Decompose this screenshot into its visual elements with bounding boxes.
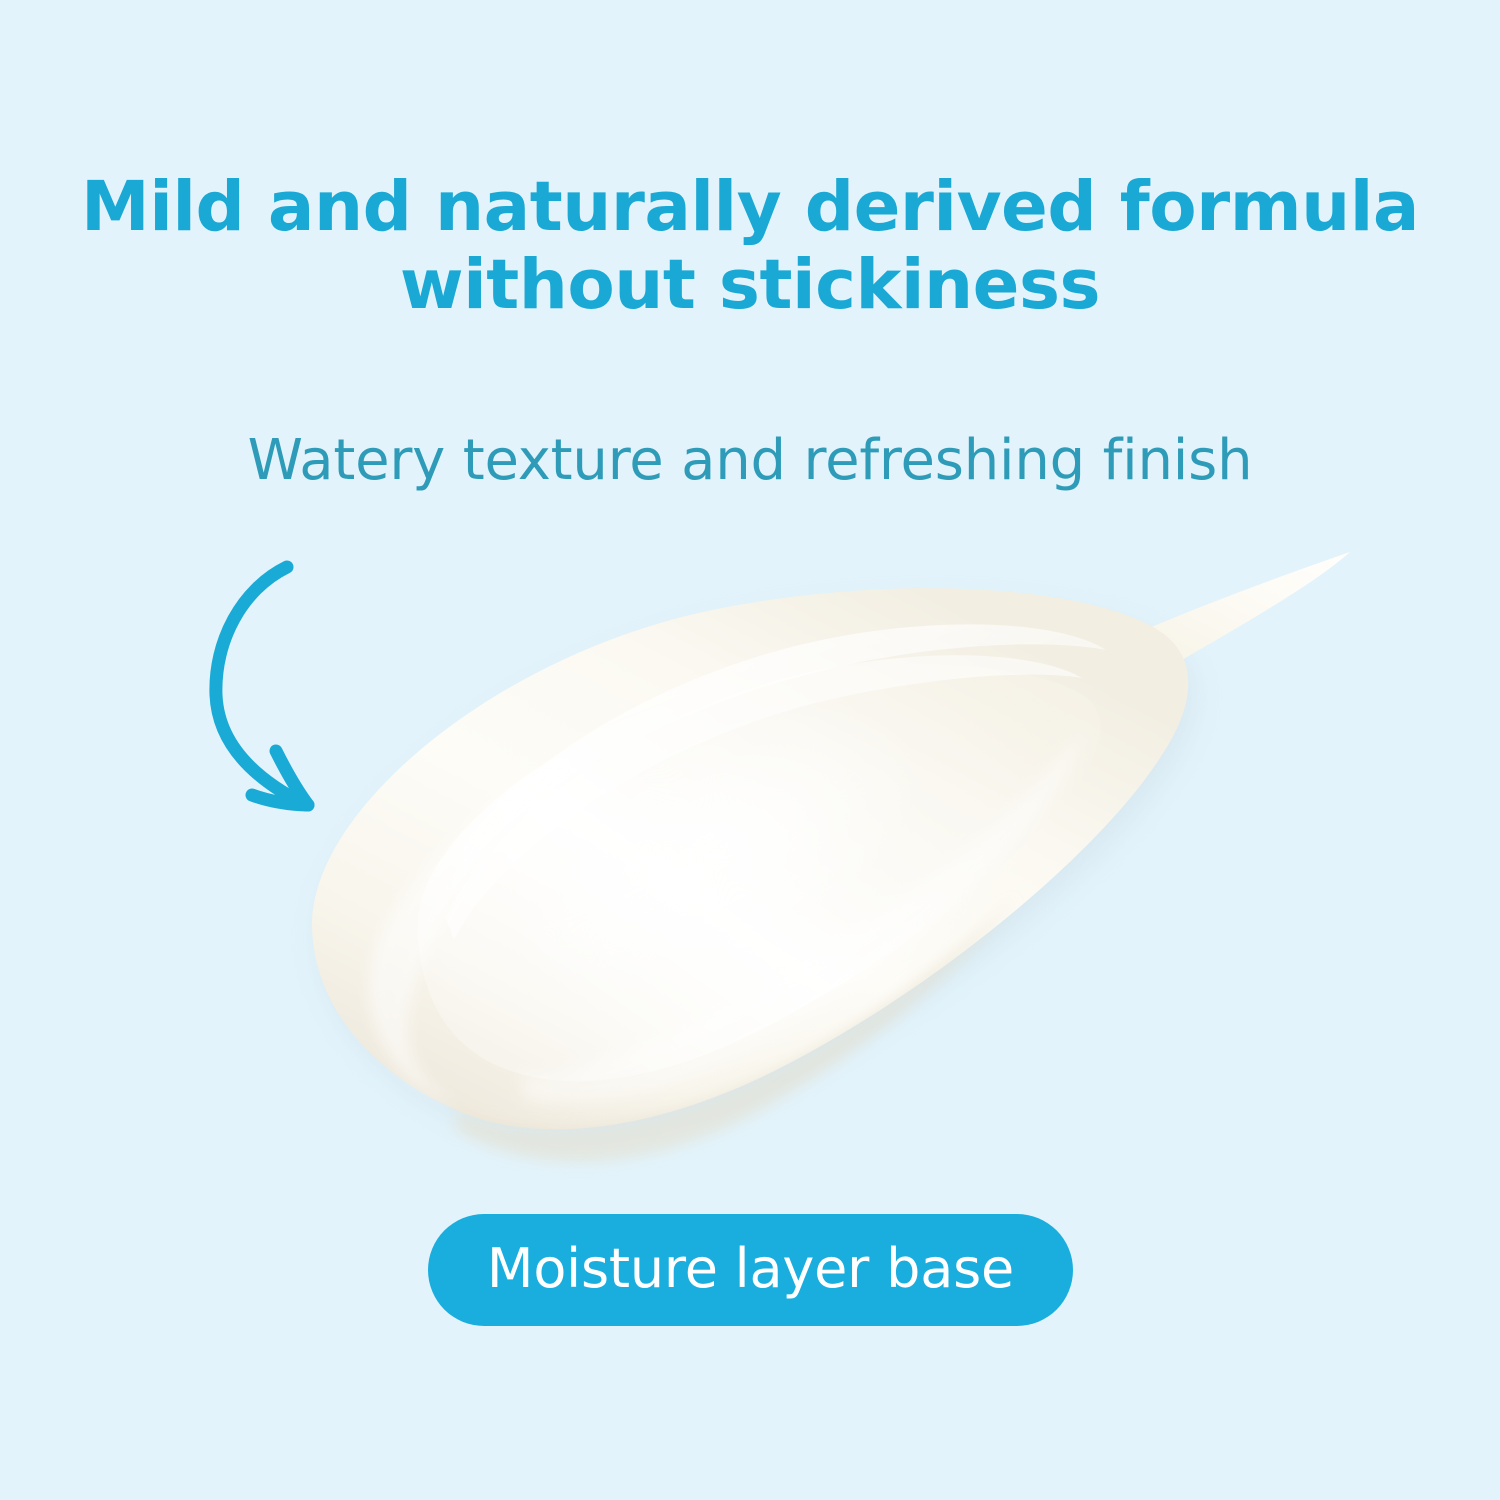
- headline-line-2: without stickiness: [0, 246, 1500, 324]
- cream-swatch: [250, 500, 1430, 1180]
- page-title: Mild and naturally derived formula witho…: [0, 168, 1500, 324]
- moisture-layer-base-button[interactable]: Moisture layer base: [428, 1214, 1073, 1326]
- headline-line-1: Mild and naturally derived formula: [0, 168, 1500, 246]
- curved-down-arrow-icon: [190, 555, 390, 825]
- product-feature-poster: Mild and naturally derived formula witho…: [0, 0, 1500, 1500]
- subtitle: Watery texture and refreshing finish: [0, 428, 1500, 494]
- cream-smear-swatch: [250, 500, 1430, 1180]
